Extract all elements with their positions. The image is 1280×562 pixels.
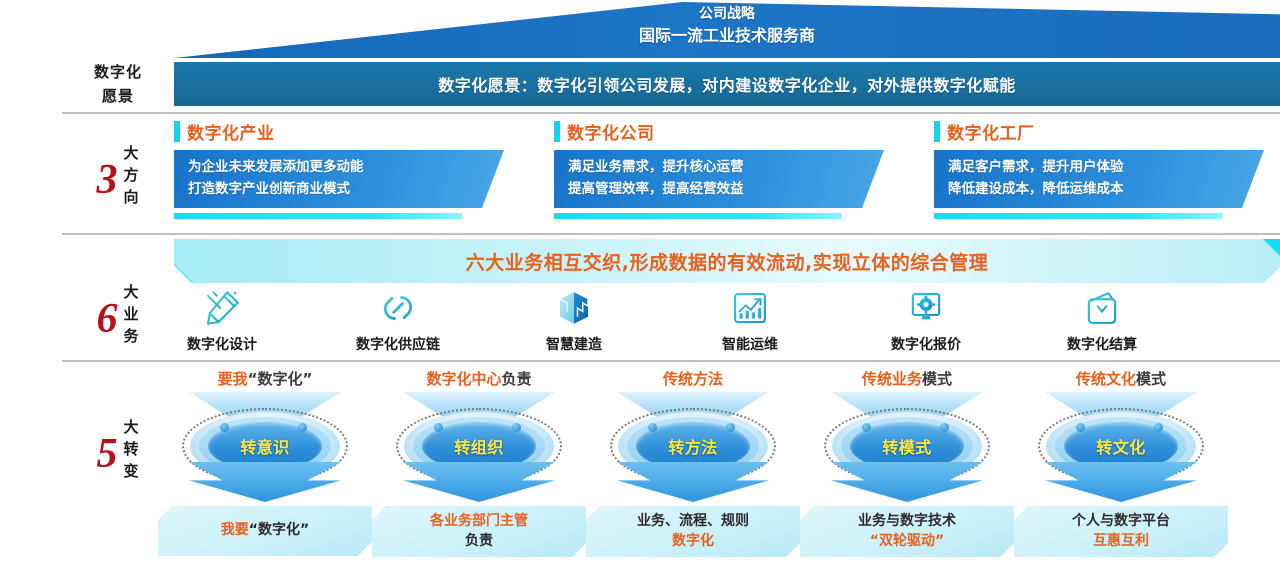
rail-vision: 数字化 愿景: [62, 62, 174, 106]
transformation-2-core-label: 转组织: [454, 434, 504, 458]
transformation-5-top-rest: 模式: [1136, 370, 1166, 388]
transformation-1-diagram: 转意识: [158, 392, 372, 500]
direction-2-line-1: 满足业务需求，提升核心运营: [568, 157, 884, 179]
transformation-3-result-line-2: 数字化: [672, 532, 714, 552]
transformation-1-result: 我要“数字化”: [158, 506, 372, 556]
wallet-yuan-icon: [1014, 286, 1190, 330]
banner-text-group: 公司战略 国际一流工业技术服务商: [174, 4, 1280, 47]
transformation-column-5[interactable]: 传统文化模式 转文化 个人与数字平台 互惠互利: [1014, 368, 1228, 557]
transformation-3-diagram: 转方法: [586, 392, 800, 500]
node-dot-icon: [862, 423, 871, 432]
rail-directions-label: 大方向: [123, 143, 139, 208]
rail-vision-label: 数字化 愿景: [94, 60, 142, 108]
direction-1-line-1: 为企业未来发展添加更多动能: [188, 157, 504, 179]
direction-2-underline: [554, 213, 842, 219]
transformation-5-top-highlight: 传统文化: [1076, 370, 1136, 388]
business-item-4[interactable]: 智能运维: [662, 286, 838, 354]
direction-2-title: 数字化公司: [567, 119, 655, 144]
direction-2-header: 数字化公司: [554, 118, 884, 144]
rail-directions-number: 3: [96, 159, 117, 201]
direction-1-underline: [174, 213, 462, 219]
transformation-4-top-highlight: 传统业务: [862, 370, 922, 388]
node-dot-icon: [512, 423, 521, 432]
direction-2-box: 满足业务需求，提升核心运营 提高管理效率，提高经营效益: [554, 150, 884, 208]
business-5-label: 数字化报价: [838, 334, 1014, 354]
node-dot-icon: [1154, 423, 1163, 432]
direction-3-line-2: 降低建设成本，降低运维成本: [948, 179, 1264, 201]
transformation-column-3[interactable]: 传统方法 转方法 业务、流程、规则 数字化: [586, 368, 800, 557]
direction-3-box: 满足客户需求，提升用户体验 降低建设成本，降低运维成本: [934, 150, 1264, 208]
direction-3-header: 数字化工厂: [934, 118, 1264, 144]
separator-after-directions: [62, 233, 1280, 235]
chain-link-icon: [310, 286, 486, 330]
businesses-banner-text: 六大业务相互交织,形成数据的有效流动,实现立体的综合管理: [466, 248, 988, 275]
business-item-6[interactable]: 数字化结算: [1014, 286, 1190, 354]
transformation-3-top-highlight: 传统方法: [663, 370, 723, 388]
transformation-1-top-highlight: 要我: [218, 370, 248, 388]
transformation-2-top-rest: 负责: [502, 370, 532, 388]
corner-notch-top-right-icon: [1263, 239, 1280, 256]
transformation-4-result: 业务与数字技术 “双轮驱动”: [800, 506, 1014, 557]
transformation-5-diagram: 转文化: [1014, 392, 1228, 500]
transformation-2-top: 数字化中心负责: [372, 368, 586, 390]
funnel-arrow-down-icon: [1045, 462, 1197, 502]
funnel-arrow-down-icon: [189, 462, 341, 502]
rail-businesses-number: 6: [96, 298, 117, 340]
transformation-5-result: 个人与数字平台 互惠互利: [1014, 506, 1228, 557]
node-dot-icon: [1076, 423, 1085, 432]
strategy-line-1: 公司战略: [174, 4, 1280, 24]
transformation-2-result: 各业务部门主管 负责: [372, 506, 586, 557]
transformation-4-core-label: 转模式: [882, 434, 932, 458]
transformation-5-result-line-1: 个人与数字平台: [1072, 512, 1170, 532]
direction-1-line-2: 打造数字产业创新商业模式: [188, 179, 504, 201]
direction-3-title: 数字化工厂: [947, 119, 1035, 144]
transformation-3-result: 业务、流程、规则 数字化: [586, 506, 800, 557]
rail-transformations-number: 5: [96, 433, 117, 475]
transformation-1-top-rest: “数字化”: [248, 370, 313, 388]
business-2-label: 数字化供应链: [310, 334, 486, 354]
transformation-1-core-label: 转意识: [240, 434, 290, 458]
transformation-5-result-line-2: 互惠互利: [1093, 532, 1149, 552]
node-dot-icon: [434, 423, 443, 432]
transformation-4-top-rest: 模式: [922, 370, 952, 388]
chart-trend-icon: [662, 286, 838, 330]
business-item-3[interactable]: 智慧建造: [486, 286, 662, 354]
direction-1-header: 数字化产业: [174, 118, 504, 144]
tick-marker-icon: [174, 121, 180, 142]
transformation-column-1[interactable]: 要我“数字化” 转意识 我要“数字化”: [158, 368, 372, 556]
direction-1-box: 为企业未来发展添加更多动能 打造数字产业创新商业模式: [174, 150, 504, 208]
transformation-column-4[interactable]: 传统业务模式 转模式 业务与数字技术 “双轮驱动”: [800, 368, 1014, 557]
transformation-4-result-line-1: 业务与数字技术: [858, 512, 956, 532]
direction-card-1: 数字化产业 为企业未来发展添加更多动能 打造数字产业创新商业模式: [174, 118, 504, 219]
company-strategy-banner: 公司战略 国际一流工业技术服务商: [174, 2, 1280, 58]
transformation-1-result-rest: “数字化”: [249, 522, 309, 538]
node-dot-icon: [648, 423, 657, 432]
transformation-5-core-label: 转文化: [1096, 434, 1146, 458]
transformation-2-result-line-1: 各业务部门主管: [430, 512, 528, 532]
businesses-banner: 六大业务相互交织,形成数据的有效流动,实现立体的综合管理: [174, 239, 1280, 283]
direction-3-underline: [934, 213, 1222, 219]
business-1-label: 数字化设计: [134, 334, 310, 354]
transformation-3-core-label: 转方法: [668, 434, 718, 458]
building-cube-icon: [486, 286, 662, 330]
node-dot-icon: [726, 423, 735, 432]
funnel-arrow-down-icon: [617, 462, 769, 502]
transformation-3-result-line-1: 业务、流程、规则: [637, 512, 749, 532]
rail-directions: 3 大方向: [62, 122, 174, 230]
business-item-2[interactable]: 数字化供应链: [310, 286, 486, 354]
transformation-2-result-line-2: 负责: [465, 532, 493, 552]
direction-1-title: 数字化产业: [187, 119, 275, 144]
node-dot-icon: [220, 423, 229, 432]
transformation-1-top: 要我“数字化”: [158, 368, 372, 390]
business-3-label: 智慧建造: [486, 334, 662, 354]
node-dot-icon: [298, 423, 307, 432]
monitor-gear-icon: [838, 286, 1014, 330]
node-dot-icon: [940, 423, 949, 432]
transformation-5-top: 传统文化模式: [1014, 368, 1228, 390]
tick-marker-icon: [554, 121, 560, 142]
separator-after-businesses: [62, 360, 1280, 362]
strategy-line-2: 国际一流工业技术服务商: [174, 24, 1280, 47]
tick-marker-icon: [934, 121, 940, 142]
business-item-5[interactable]: 数字化报价: [838, 286, 1014, 354]
transformation-2-top-highlight: 数字化中心: [426, 370, 501, 388]
direction-2-line-2: 提高管理效率，提高经营效益: [568, 179, 884, 201]
transformation-1-result-line-1: 我要“数字化”: [221, 521, 309, 541]
vision-text: 数字化愿景：数字化引领公司发展，对内建设数字化企业，对外提供数字化赋能: [438, 72, 1016, 96]
transformation-4-diagram: 转模式: [800, 392, 1014, 500]
rail-vision-line2: 愿景: [94, 84, 142, 108]
direction-card-3: 数字化工厂 满足客户需求，提升用户体验 降低建设成本，降低运维成本: [934, 118, 1264, 219]
rail-vision-line1: 数字化: [94, 60, 142, 84]
pen-design-icon: [134, 286, 310, 330]
vision-bar: 数字化愿景：数字化引领公司发展，对内建设数字化企业，对外提供数字化赋能: [174, 62, 1280, 106]
transformation-3-top: 传统方法: [586, 368, 800, 390]
corner-notch-bottom-left-icon: [174, 264, 193, 283]
transformation-1-result-hl: 我要: [221, 522, 249, 538]
business-4-label: 智能运维: [662, 334, 838, 354]
separator-after-vision: [62, 112, 1280, 114]
direction-3-line-1: 满足客户需求，提升用户体验: [948, 157, 1264, 179]
rail-transformations-label: 大转变: [123, 417, 139, 482]
business-6-label: 数字化结算: [1014, 334, 1190, 354]
transformation-2-diagram: 转组织: [372, 392, 586, 500]
digital-strategy-infographic: 公司战略 国际一流工业技术服务商 数字化 愿景 数字化愿景：数字化引领公司发展，…: [0, 0, 1280, 562]
funnel-arrow-down-icon: [403, 462, 555, 502]
transformation-4-result-line-2: “双轮驱动”: [870, 532, 944, 552]
funnel-arrow-down-icon: [831, 462, 983, 502]
direction-card-2: 数字化公司 满足业务需求，提升核心运营 提高管理效率，提高经营效益: [554, 118, 884, 219]
transformation-4-top: 传统业务模式: [800, 368, 1014, 390]
transformation-column-2[interactable]: 数字化中心负责 转组织 各业务部门主管 负责: [372, 368, 586, 557]
business-item-1[interactable]: 数字化设计: [134, 286, 310, 354]
